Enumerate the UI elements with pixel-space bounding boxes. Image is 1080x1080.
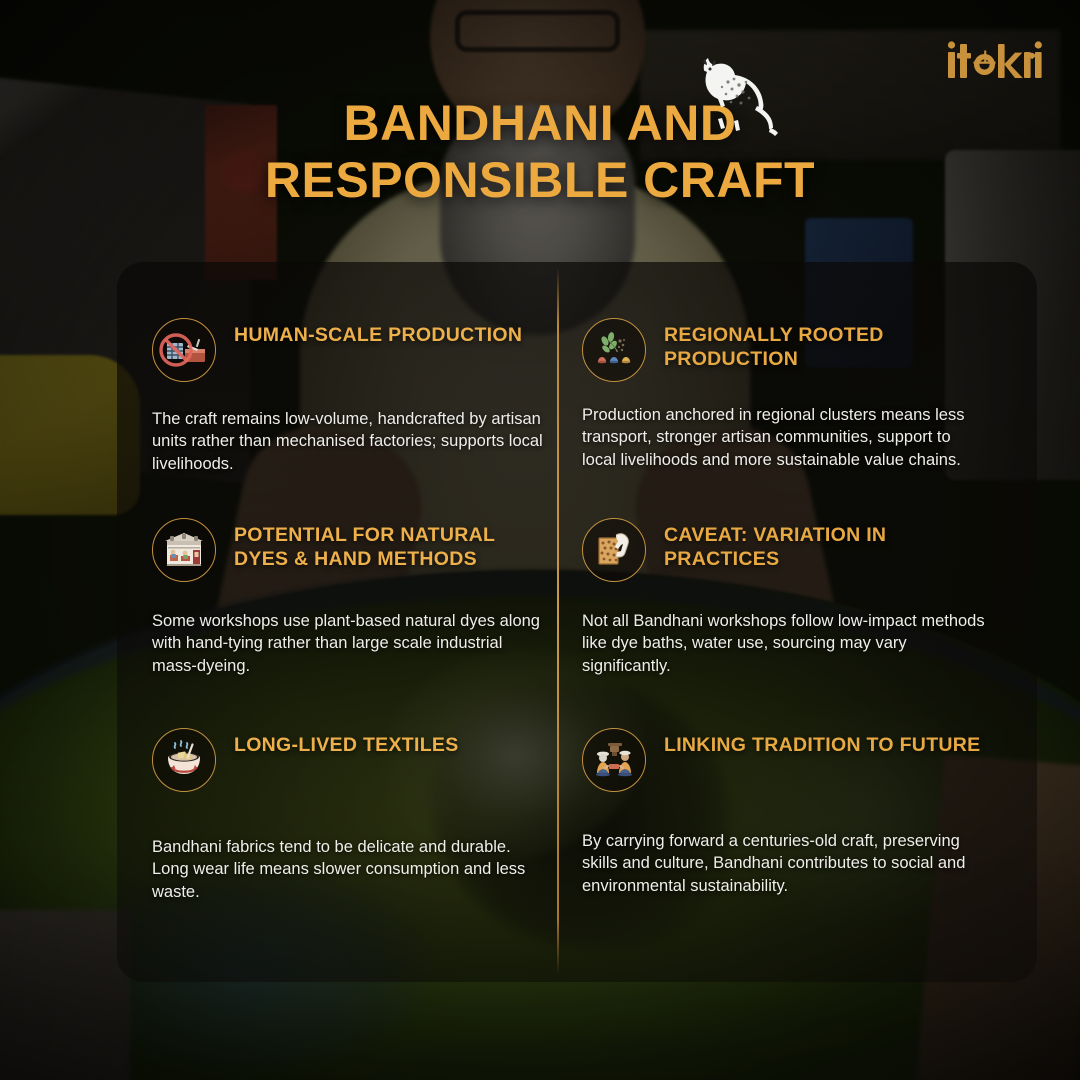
point-caveat-variation-in-practices: CAVEAT: VARIATION IN PRACTICES Not all B… [582,518,987,677]
point-title: CAVEAT: VARIATION IN PRACTICES [664,518,987,572]
point-body: The craft remains low-volume, handcrafte… [152,408,544,475]
point-header: REGIONALLY ROOTED PRODUCTION [582,318,987,382]
point-header: HUMAN-SCALE PRODUCTION [152,318,544,382]
point-header: LINKING TRADITION TO FUTURE [582,728,987,792]
two-artisans-icon [582,728,646,792]
point-regionally-rooted-production: REGIONALLY ROOTED PRODUCTION Production … [582,318,987,471]
point-title: LONG-LIVED TEXTILES [234,728,459,758]
point-title: HUMAN-SCALE PRODUCTION [234,318,522,348]
point-linking-tradition-to-future: LINKING TRADITION TO FUTURE By carrying … [582,728,987,897]
point-body: Not all Bandhani workshops follow low-im… [582,610,987,677]
title-line-1: BANDHANI AND [0,95,1080,152]
artisan-workshop-icon [152,518,216,582]
no-factory-icon [152,318,216,382]
point-header: LONG-LIVED TEXTILES [152,728,544,792]
steaming-dye-pot-icon [152,728,216,792]
basket-logo-icon [946,40,1042,82]
point-body: Production anchored in regional clusters… [582,404,987,471]
leaves-and-dye-powders-icon [582,318,646,382]
title-line-2: RESPONSIBLE CRAFT [0,152,1080,209]
point-title: POTENTIAL FOR NATURAL DYES & HAND METHOD… [234,518,544,572]
infographic-poster: BANDHANI AND RESPONSIBLE CRAFT [0,0,1080,1080]
brand-logo[interactable] [946,40,1042,82]
point-body: Some workshops use plant-based natural d… [152,610,544,677]
point-title: LINKING TRADITION TO FUTURE [664,728,980,758]
point-header: CAVEAT: VARIATION IN PRACTICES [582,518,987,582]
hand-holding-fabric-icon [582,518,646,582]
point-body: Bandhani fabrics tend to be delicate and… [152,836,544,903]
point-title: REGIONALLY ROOTED PRODUCTION [664,318,987,372]
point-long-lived-textiles: LONG-LIVED TEXTILES Bandhani fabrics ten… [152,728,544,903]
point-body: By carrying forward a centuries-old craf… [582,830,987,897]
point-potential-for-natural-dyes: POTENTIAL FOR NATURAL DYES & HAND METHOD… [152,518,544,677]
point-header: POTENTIAL FOR NATURAL DYES & HAND METHOD… [152,518,544,582]
page-title: BANDHANI AND RESPONSIBLE CRAFT [0,95,1080,209]
point-human-scale-production: HUMAN-SCALE PRODUCTION The craft remains… [152,318,544,475]
